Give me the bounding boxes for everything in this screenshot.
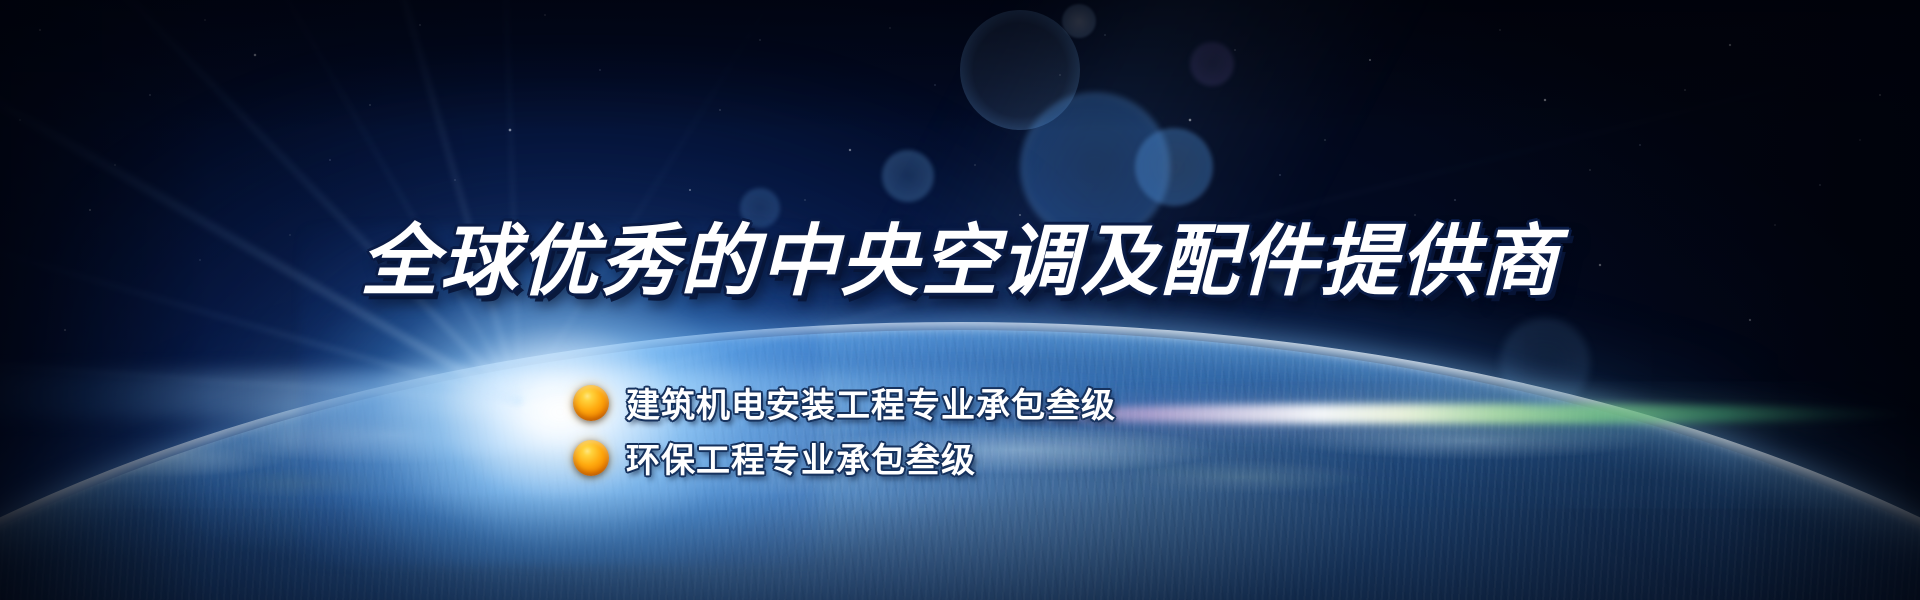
banner-headline: 全球优秀的中央空调及配件提供商	[0, 199, 1920, 311]
bullet-item-1-label: 建筑机电安装工程专业承包叁级	[626, 378, 1116, 427]
bullet-item-2: 环保工程专业承包叁级	[573, 430, 1116, 485]
orange-dot-icon	[573, 385, 609, 421]
banner-content: 全球优秀的中央空调及配件提供商 建筑机电安装工程专业承包叁级 环保工程专业承包叁…	[0, 0, 1920, 600]
banner-bullet-list: 建筑机电安装工程专业承包叁级 环保工程专业承包叁级	[573, 375, 1116, 485]
bullet-item-1: 建筑机电安装工程专业承包叁级	[573, 375, 1116, 430]
bullet-item-2-label: 环保工程专业承包叁级	[626, 433, 976, 482]
orange-dot-icon	[573, 440, 609, 476]
hero-banner: 全球优秀的中央空调及配件提供商 建筑机电安装工程专业承包叁级 环保工程专业承包叁…	[0, 0, 1920, 600]
